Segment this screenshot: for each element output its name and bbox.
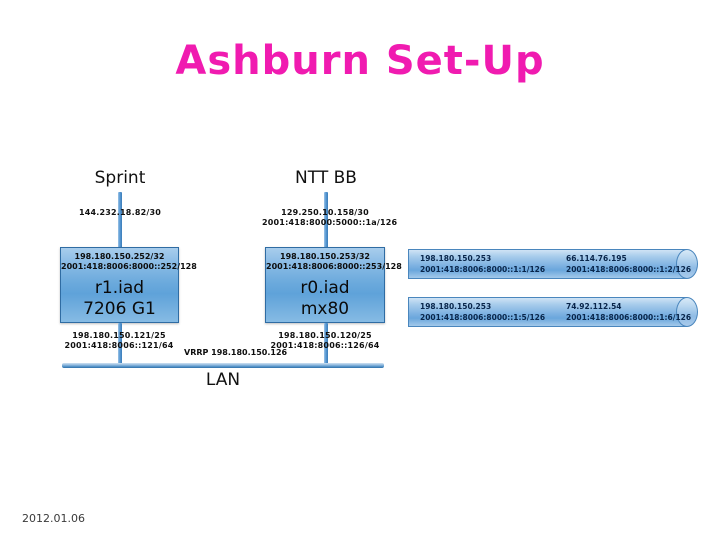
router-hostname-r0: r0.iad <box>300 278 349 298</box>
router-loopback-v6-r0: 2001:418:8006:8000::253/128 <box>266 262 402 271</box>
peering-near-endpoint-2: 198.180.150.253 2001:418:8006:8000::1:5/… <box>420 302 545 323</box>
uplink-address-ntt-v4: 129.250.10.158/30 <box>281 208 369 217</box>
router-loopback-r0: 198.180.150.253/32 2001:418:8006:8000::2… <box>266 252 384 273</box>
peering-far-v4-1: 66.114.76.195 <box>566 254 627 263</box>
router-loopback-v4-r0: 198.180.150.253/32 <box>280 252 370 261</box>
router-lan-v4-r1: 198.180.150.121/25 <box>72 331 166 340</box>
router-loopback-v4-r1: 198.180.150.252/32 <box>75 252 165 261</box>
uplink-address-ntt-v6: 2001:418:8000:5000::1a/126 <box>262 218 397 227</box>
peering-near-v4-2: 198.180.150.253 <box>420 302 491 311</box>
router-node-r1-iad[interactable]: 198.180.150.252/32 2001:418:8006:8000::2… <box>60 247 179 323</box>
peering-far-v6-1: 2001:418:8006:8000::1:2/126 <box>566 265 691 274</box>
peering-far-endpoint-1: 66.114.76.195 2001:418:8006:8000::1:2/12… <box>566 254 691 275</box>
router-hostname-r1: r1.iad <box>95 278 144 298</box>
router-identity-r1: r1.iad 7206 G1 <box>61 278 178 319</box>
footer-date: 2012.01.06 <box>22 512 85 525</box>
router-loopback-r1: 198.180.150.252/32 2001:418:8006:8000::2… <box>61 252 178 273</box>
router-model-r0: mx80 <box>301 299 349 319</box>
router-node-r0-iad[interactable]: 198.180.150.253/32 2001:418:8006:8000::2… <box>265 247 385 323</box>
peering-near-endpoint-1: 198.180.150.253 2001:418:8006:8000::1:1/… <box>420 254 545 275</box>
page-title: Ashburn Set-Up <box>0 38 720 84</box>
link-line-sprint <box>118 192 122 249</box>
vrrp-label: VRRP 198.180.150.126 <box>184 348 287 357</box>
peering-cylinder-2[interactable]: 198.180.150.253 2001:418:8006:8000::1:5/… <box>408 297 698 327</box>
peering-near-v6-1: 2001:418:8006:8000::1:1/126 <box>420 265 545 274</box>
router-lan-v4-r0: 198.180.150.120/25 <box>278 331 372 340</box>
peering-far-v6-2: 2001:418:8006:8000::1:6/126 <box>566 313 691 322</box>
router-identity-r0: r0.iad mx80 <box>266 278 384 319</box>
peering-far-v4-2: 74.92.112.54 <box>566 302 622 311</box>
slide-canvas: Ashburn Set-Up Sprint 144.232.18.82/30 1… <box>0 0 720 540</box>
uplink-address-ntt: 129.250.10.158/30 2001:418:8000:5000::1a… <box>262 208 388 228</box>
uplink-address-sprint-v4: 144.232.18.82/30 <box>60 208 180 218</box>
peering-far-endpoint-2: 74.92.112.54 2001:418:8006:8000::1:6/126 <box>566 302 691 323</box>
peering-cylinder-1[interactable]: 198.180.150.253 2001:418:8006:8000::1:1/… <box>408 249 698 279</box>
peering-near-v6-2: 2001:418:8006:8000::1:5/126 <box>420 313 545 322</box>
provider-label-sprint: Sprint <box>60 168 180 188</box>
lan-segment-bar <box>62 363 384 368</box>
router-loopback-v6-r1: 2001:418:8006:8000::252/128 <box>61 262 197 271</box>
router-lan-v6-r1: 2001:418:8006::121/64 <box>65 341 174 350</box>
lan-label: LAN <box>183 370 263 390</box>
peering-near-v4-1: 198.180.150.253 <box>420 254 491 263</box>
router-lan-address-r1: 198.180.150.121/25 2001:418:8006::121/64 <box>58 331 180 351</box>
provider-label-ntt-bb: NTT BB <box>266 168 386 188</box>
router-model-r1: 7206 G1 <box>83 299 156 319</box>
